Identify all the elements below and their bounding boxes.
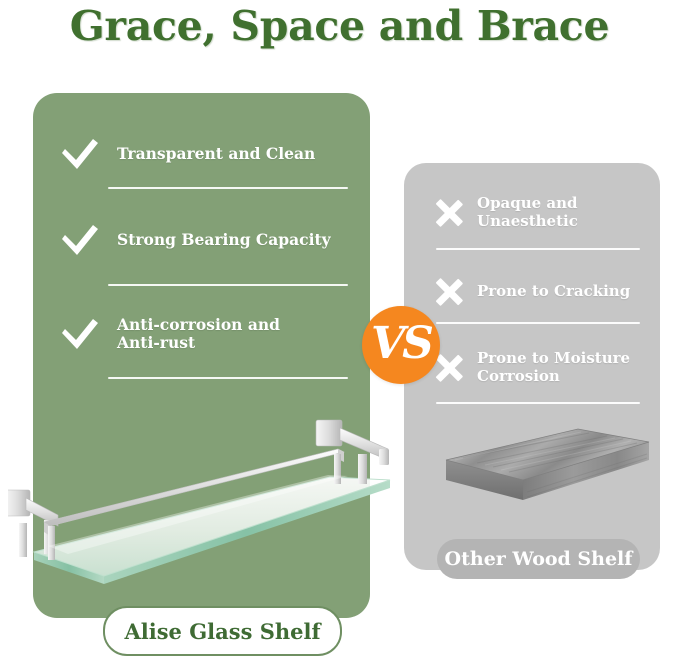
con-divider-2 [436,322,640,324]
con-product-label: Other Wood Shelf [445,548,633,570]
pro-product-label-pill: Alise Glass Shelf [103,606,342,656]
con-divider-3 [436,402,640,404]
cross-icon [434,198,464,228]
pro-feature-label: Anti-corrosion and Anti-rust [117,316,280,353]
con-feature-row-2: Prone to Cracking [434,275,659,309]
pro-divider-3 [108,377,348,379]
pro-feature-label: Transparent and Clean [117,145,315,163]
pro-feature-row-2: Strong Bearing Capacity [60,220,360,260]
pro-feature-row-1: Transparent and Clean [60,134,360,174]
check-icon [60,137,100,171]
cross-icon [434,353,464,383]
con-divider-1 [436,248,640,250]
check-icon [60,317,100,351]
pro-divider-1 [108,187,348,189]
check-icon [60,223,100,257]
con-product-label-pill: Other Wood Shelf [437,539,640,579]
pro-product-label: Alise Glass Shelf [124,619,320,644]
page-title: Grace, Space and Brace [0,2,679,50]
con-feature-label: Prone to Moisture Corrosion [477,350,630,385]
con-feature-label: Opaque and Unaesthetic [477,195,578,230]
pro-divider-2 [108,284,348,286]
con-feature-row-1: Opaque and Unaesthetic [434,190,659,236]
glass-shelf-product-image [8,418,408,598]
con-feature-label: Prone to Cracking [477,283,630,301]
pro-feature-label: Strong Bearing Capacity [117,231,331,249]
vs-badge: VS [362,306,440,384]
vs-label: VS [371,322,431,366]
pro-feature-row-3: Anti-corrosion and Anti-rust [60,308,360,360]
con-feature-row-3: Prone to Moisture Corrosion [434,345,662,391]
wood-shelf-product-image [441,424,656,534]
cross-icon [434,277,464,307]
